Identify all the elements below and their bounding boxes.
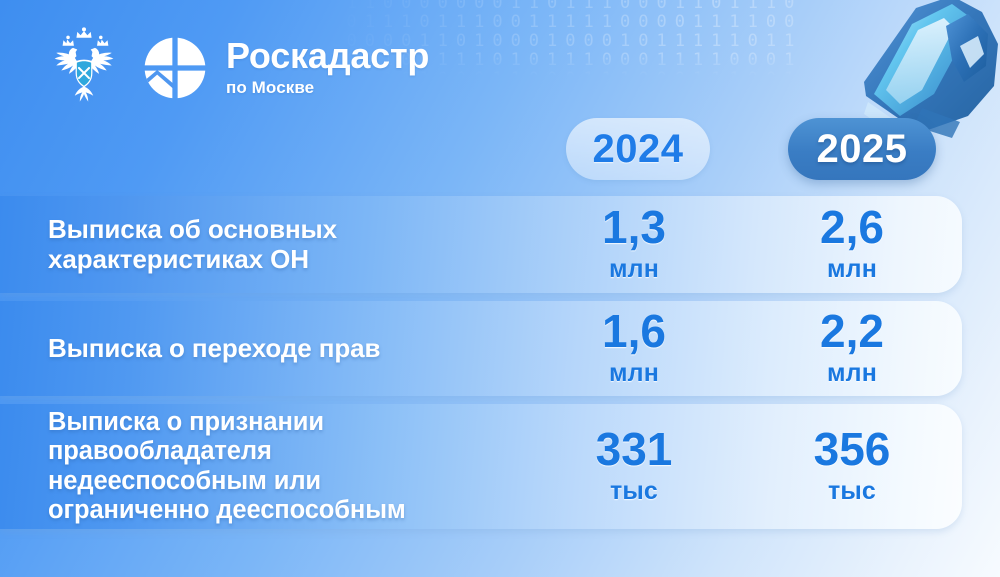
- brand-subtitle: по Москве: [226, 78, 429, 98]
- infographic-canvas: 0011011100011011100110000000110111000110…: [0, 0, 1000, 577]
- cell-unit: тыс: [610, 477, 658, 506]
- cell-unit: млн: [827, 255, 877, 284]
- cell-2024: 331 тыс: [554, 427, 714, 506]
- statistics-rows: Выписка об основных характеристиках ОН 1…: [0, 196, 1000, 529]
- row-label: Выписка о переходе прав: [0, 334, 560, 363]
- cell-value: 2,6: [820, 205, 884, 250]
- year-column-headers: 2024 2025: [0, 118, 1000, 182]
- row-label-line: Выписка о переходе прав: [48, 334, 560, 363]
- cell-value: 1,3: [602, 205, 666, 250]
- row-label-line: Выписка об основных: [48, 215, 560, 244]
- row-label-line: характеристиках ОН: [48, 245, 560, 274]
- cell-2025: 2,6 млн: [772, 205, 932, 284]
- row-label-line: недееспособным или: [48, 467, 560, 496]
- cell-value: 331: [596, 427, 673, 472]
- row-label-line: правообладателя: [48, 437, 560, 466]
- cell-2024: 1,6 млн: [554, 309, 714, 388]
- row-label-line: Выписка о признании: [48, 408, 560, 437]
- cell-2025: 356 тыс: [772, 427, 932, 506]
- cell-2025: 2,2 млн: [772, 309, 932, 388]
- cell-unit: млн: [827, 359, 877, 388]
- cell-unit: млн: [609, 359, 659, 388]
- year-badge-2025[interactable]: 2025: [788, 118, 936, 180]
- cell-unit: млн: [609, 255, 659, 284]
- cell-value: 2,2: [820, 309, 884, 354]
- brand-title: Роскадастр: [226, 38, 429, 75]
- row-label-line: ограниченно дееспособным: [48, 496, 560, 525]
- cell-value: 356: [814, 427, 891, 472]
- cell-2024: 1,3 млн: [554, 205, 714, 284]
- row-label: Выписка об основных характеристиках ОН: [0, 215, 560, 273]
- table-row: Выписка о признании правообладателя неде…: [0, 404, 962, 529]
- year-badge-2024[interactable]: 2024: [566, 118, 710, 180]
- brand-text-block: Роскадастр по Москве: [226, 38, 429, 98]
- cell-unit: тыс: [828, 477, 876, 506]
- roskadastr-circle-house-icon: [142, 35, 208, 101]
- russian-coat-of-arms-icon: [42, 26, 126, 110]
- cell-value: 1,6: [602, 309, 666, 354]
- row-label: Выписка о признании правообладателя неде…: [0, 408, 560, 525]
- brand-header: Роскадастр по Москве: [42, 26, 429, 110]
- table-row: Выписка об основных характеристиках ОН 1…: [0, 196, 962, 293]
- table-row: Выписка о переходе прав 1,6 млн 2,2 млн: [0, 301, 962, 396]
